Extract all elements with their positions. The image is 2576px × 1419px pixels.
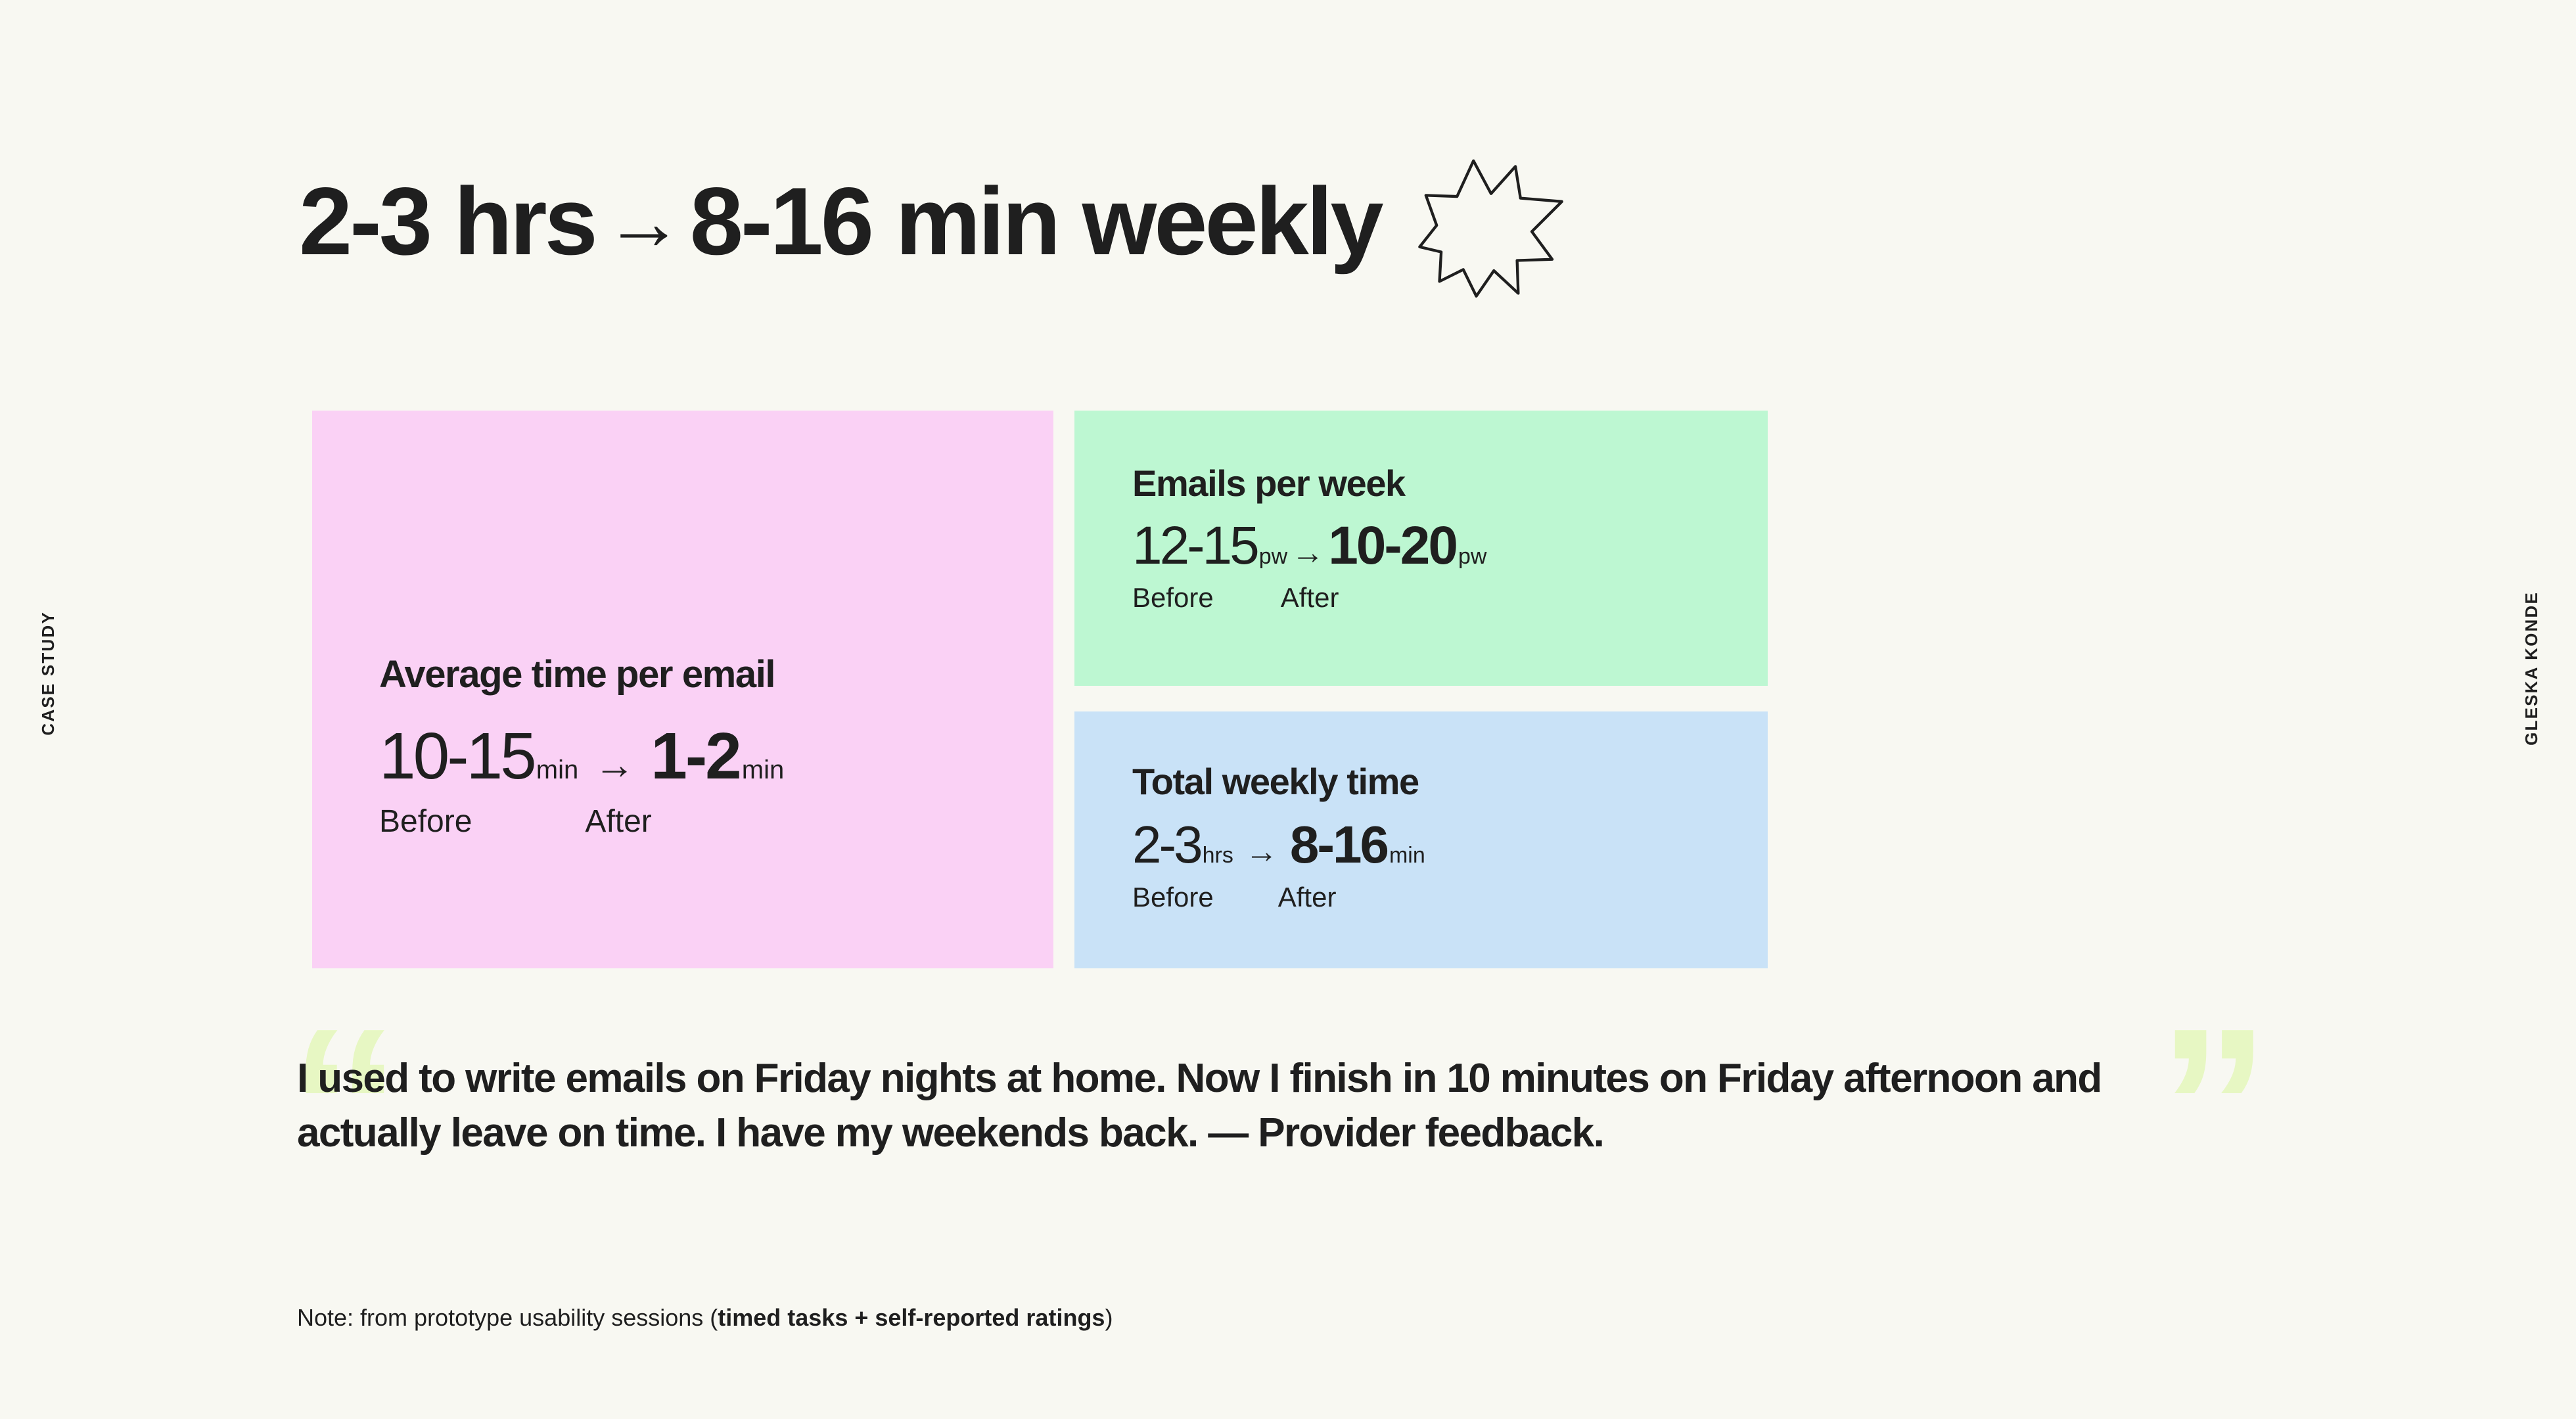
label-row: Before After <box>379 803 784 840</box>
after-unit: min <box>742 755 784 785</box>
before-value: 12-15 <box>1132 515 1257 577</box>
after-value: 10-20 <box>1328 515 1456 577</box>
headline-before: 2-3 hrs <box>299 168 595 275</box>
card-title: Emails per week <box>1132 462 1486 505</box>
footnote-emphasis: timed tasks + self-reported ratings <box>718 1304 1105 1331</box>
before-unit: pw <box>1259 544 1287 570</box>
arrow-right-icon: → <box>595 183 690 261</box>
footnote-suffix: ) <box>1105 1304 1113 1331</box>
arrow-right-icon: → <box>594 742 635 788</box>
after-label: After <box>1281 582 1339 614</box>
after-value: 8-16 <box>1290 815 1387 875</box>
label-row: Before After <box>1132 882 1425 913</box>
quote-text: I used to write emails on Friday nights … <box>297 1051 2236 1160</box>
label-row: Before After <box>1132 582 1486 614</box>
metric-card-emails-per-week: Emails per week 12-15pw → 10-20pw Before… <box>1074 411 1768 686</box>
metric-row: 2-3hrs → 8-16min <box>1132 815 1425 875</box>
metric-row: 10-15min → 1-2min <box>379 719 784 794</box>
rail-label-brand: GLESKA KONDE <box>2521 591 2542 746</box>
starburst-icon <box>1406 139 1584 304</box>
before-label: Before <box>1132 582 1214 614</box>
card-title: Average time per email <box>379 652 784 696</box>
headline-after: 8-16 min weekly <box>690 168 1381 275</box>
quote-block: “ ” I used to write emails on Friday nig… <box>297 1051 2275 1160</box>
after-label: After <box>1278 882 1337 913</box>
before-value: 2-3 <box>1132 815 1201 875</box>
before-unit: min <box>536 755 578 785</box>
rail-label-case-study: CASE STUDY <box>38 611 58 736</box>
after-value: 1-2 <box>651 719 740 794</box>
before-unit: hrs <box>1203 843 1233 868</box>
before-value: 10-15 <box>379 719 534 794</box>
after-unit: pw <box>1458 544 1486 570</box>
metric-row: 12-15pw → 10-20pw <box>1132 515 1486 577</box>
card-content: Total weekly time 2-3hrs → 8-16min Befor… <box>1132 760 1425 913</box>
footnote-prefix: Note: from prototype usability sessions … <box>297 1304 718 1331</box>
before-label: Before <box>1132 882 1214 913</box>
before-label: Before <box>379 803 472 840</box>
arrow-right-icon: → <box>1291 533 1324 572</box>
metric-card-average-time-per-email: Average time per email 10-15min → 1-2min… <box>312 411 1053 968</box>
headline-text: 2-3 hrs→8-16 min weekly <box>299 173 1381 269</box>
after-unit: min <box>1389 843 1425 868</box>
footnote: Note: from prototype usability sessions … <box>297 1304 1113 1332</box>
card-title: Total weekly time <box>1132 760 1425 803</box>
headline: 2-3 hrs→8-16 min weekly <box>299 139 1584 304</box>
card-content: Average time per email 10-15min → 1-2min… <box>379 652 784 840</box>
card-content: Emails per week 12-15pw → 10-20pw Before… <box>1132 462 1486 614</box>
arrow-right-icon: → <box>1245 832 1278 870</box>
after-label: After <box>585 803 651 840</box>
metric-card-total-weekly-time: Total weekly time 2-3hrs → 8-16min Befor… <box>1074 711 1768 968</box>
